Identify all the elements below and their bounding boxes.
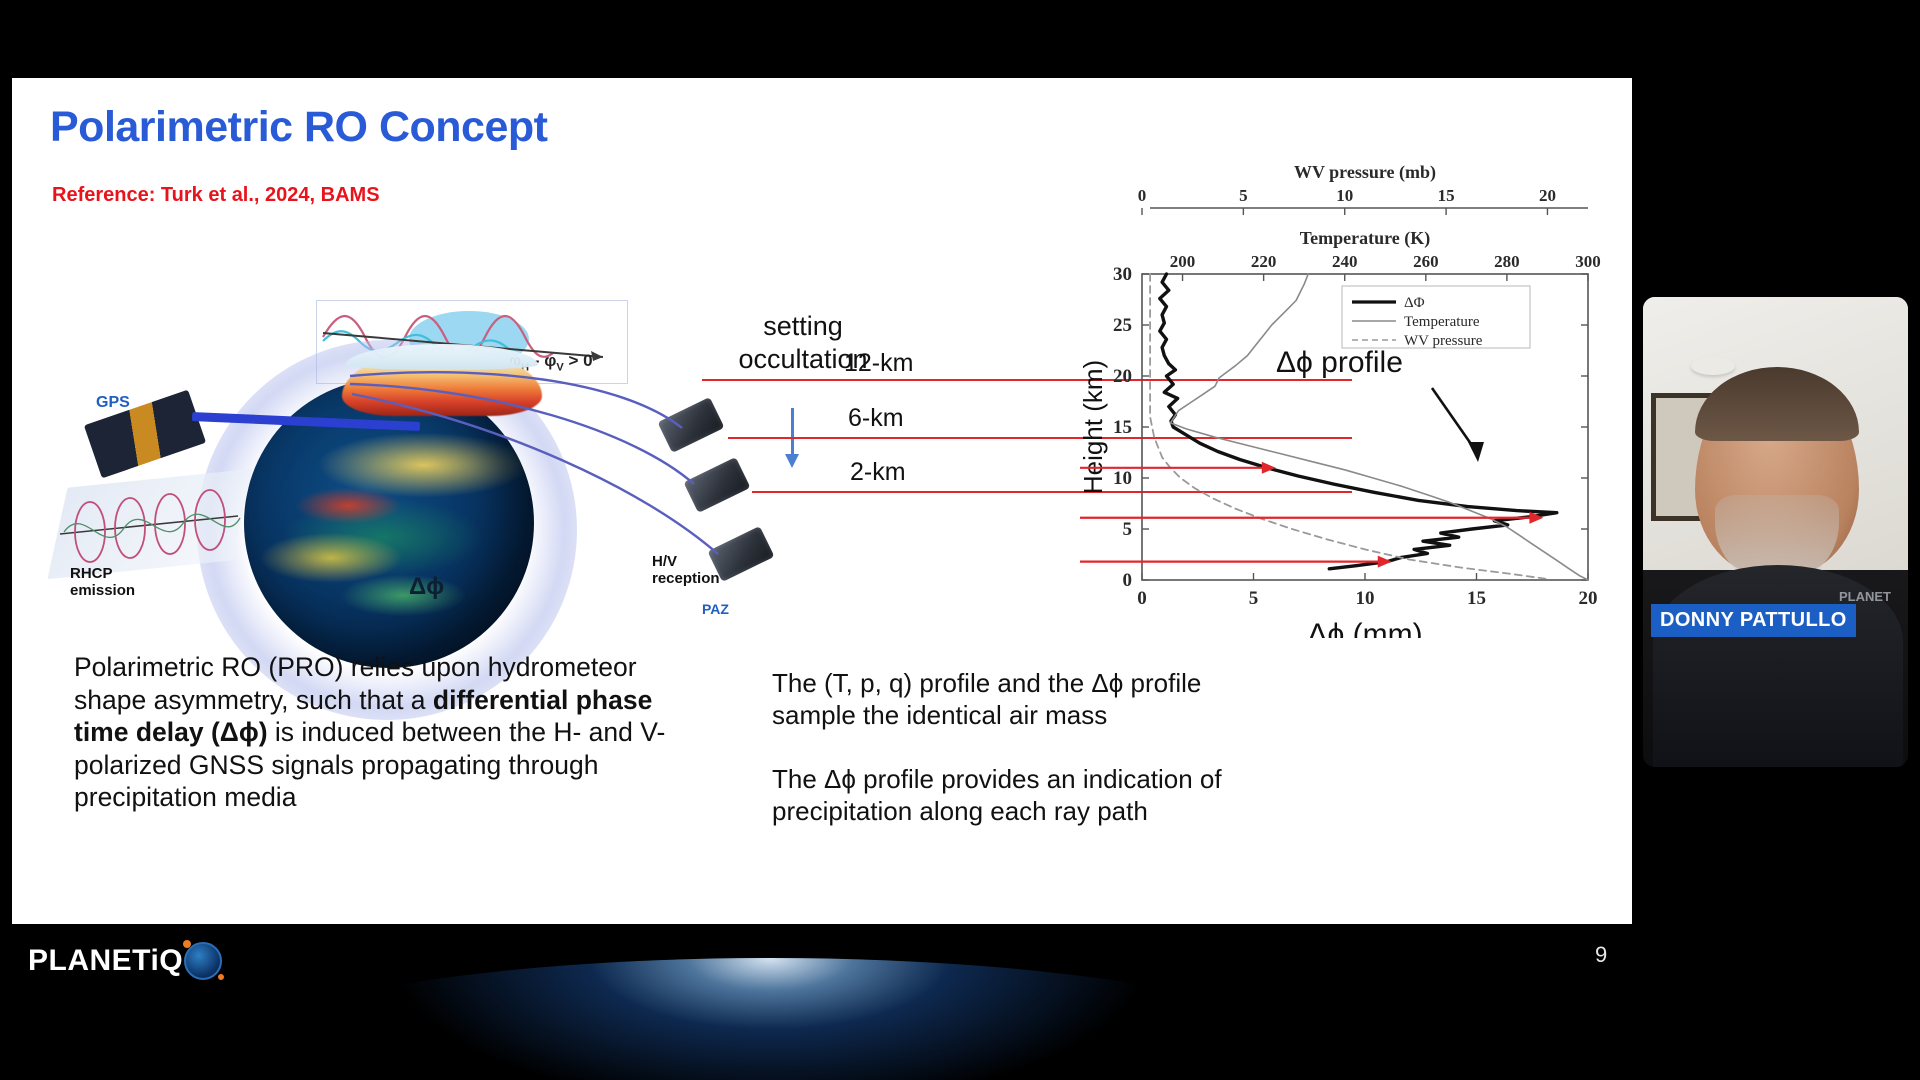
occultation-ray-arcs: [342, 358, 742, 618]
ray-label-6km: 6-km: [848, 404, 904, 433]
down-arrow-icon: [791, 408, 794, 456]
body-paragraph-right-1: The (T, p, q) profile and the Δϕ profile…: [772, 668, 1272, 732]
gps-label: GPS: [96, 394, 130, 412]
svg-text:15: 15: [1438, 186, 1455, 205]
svg-text:5: 5: [1123, 519, 1133, 540]
chart-svg: 051015202530Height (km)05101520Δϕ (mm)20…: [1080, 162, 1612, 638]
slide-reference: Reference: Turk et al., 2024, BAMS: [52, 184, 380, 207]
svg-text:0: 0: [1137, 588, 1147, 609]
svg-text:20: 20: [1579, 588, 1598, 609]
earth-limb-graphic: [190, 958, 1350, 1080]
svg-text:WV pressure (mb): WV pressure (mb): [1294, 162, 1436, 183]
svg-text:15: 15: [1113, 417, 1132, 438]
setting-occultation-line1: setting: [763, 311, 843, 341]
body-paragraph-right-2: The Δϕ profile provides an indication of…: [772, 764, 1292, 828]
svg-text:10: 10: [1113, 468, 1132, 489]
svg-text:Height (km): Height (km): [1080, 360, 1108, 494]
svg-text:280: 280: [1494, 252, 1520, 271]
svg-text:200: 200: [1170, 252, 1196, 271]
globe-icon: [184, 942, 222, 980]
svg-text:0: 0: [1138, 186, 1147, 205]
svg-text:Temperature: Temperature: [1404, 314, 1480, 330]
webcam-shirt-watermark: PLANET: [1839, 589, 1891, 604]
ray-label-2km: 2-km: [850, 458, 906, 487]
svg-text:25: 25: [1113, 315, 1132, 336]
delta-phi-profile-chart: 051015202530Height (km)05101520Δϕ (mm)20…: [1080, 162, 1612, 638]
svg-text:Δϕ profile: Δϕ profile: [1276, 346, 1403, 379]
svg-text:20: 20: [1113, 366, 1132, 387]
svg-text:ΔΦ: ΔΦ: [1404, 295, 1425, 311]
svg-text:0: 0: [1123, 570, 1133, 591]
ray-label-12km: 12-km: [844, 349, 913, 378]
svg-text:220: 220: [1251, 252, 1277, 271]
planetiq-wordmark: PLANETiQ: [28, 944, 183, 978]
presentation-slide: Polarimetric RO Concept Reference: Turk …: [12, 78, 1632, 924]
svg-text:260: 260: [1413, 252, 1439, 271]
screen-root: Polarimetric RO Concept Reference: Turk …: [0, 0, 1920, 1080]
svg-text:5: 5: [1239, 186, 1248, 205]
svg-text:5: 5: [1249, 588, 1259, 609]
svg-text:10: 10: [1336, 186, 1353, 205]
planetiq-logo: PLANETiQ: [28, 942, 222, 980]
svg-text:Δϕ (mm): Δϕ (mm): [1307, 618, 1422, 638]
page-title: Polarimetric RO Concept: [50, 103, 547, 152]
video-participant-tile[interactable]: PLANET DONNY PATTULLO: [1643, 297, 1908, 767]
rhcp-emission-label: RHCPemission: [70, 565, 135, 600]
svg-text:20: 20: [1539, 186, 1556, 205]
svg-text:WV pressure: WV pressure: [1404, 333, 1483, 349]
svg-text:Temperature (K): Temperature (K): [1300, 228, 1430, 249]
svg-text:30: 30: [1113, 264, 1132, 285]
svg-text:10: 10: [1356, 588, 1375, 609]
participant-name-badge: DONNY PATTULLO: [1651, 604, 1856, 637]
svg-text:15: 15: [1467, 588, 1486, 609]
orbit-dot: [218, 974, 224, 980]
slide-footer: PLANETiQ 9: [0, 924, 1920, 1080]
ceiling-lamp: [1691, 357, 1735, 375]
rhcp-helix-art: [52, 470, 252, 580]
body-paragraph-left: Polarimetric RO (PRO) relies upon hydrom…: [74, 651, 674, 814]
orbit-dot: [183, 940, 191, 948]
svg-text:300: 300: [1575, 252, 1601, 271]
page-number: 9: [1595, 942, 1607, 968]
svg-text:240: 240: [1332, 252, 1358, 271]
